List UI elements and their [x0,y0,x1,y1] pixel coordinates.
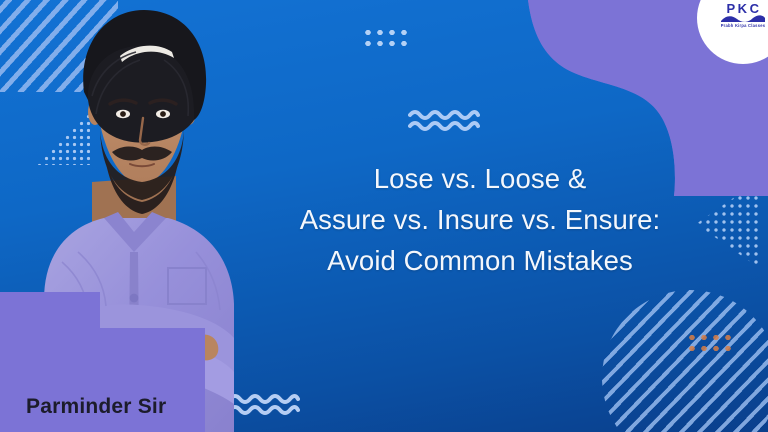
orange-dot-grid-icon [686,332,732,352]
slide-title: Lose vs. Loose & Assure vs. Insure vs. E… [262,158,698,281]
dot-grid-icon [362,27,408,48]
title-line-1: Lose vs. Loose & [262,158,698,199]
title-line-2: Assure vs. Insure vs. Ensure: [262,199,698,240]
video-thumbnail-slide: Parminder Sir PKC Prabh Kirpa Classes Lo… [0,0,768,432]
logo-mark-text: PKC [699,3,768,14]
diagonal-stripe-circle-icon [602,290,768,432]
presenter-name-label: Parminder Sir [26,395,166,419]
title-line-3: Avoid Common Mistakes [262,240,698,281]
wave-lines-icon [408,108,480,134]
logo-tagline: Prabh Kirpa Classes [697,23,768,29]
